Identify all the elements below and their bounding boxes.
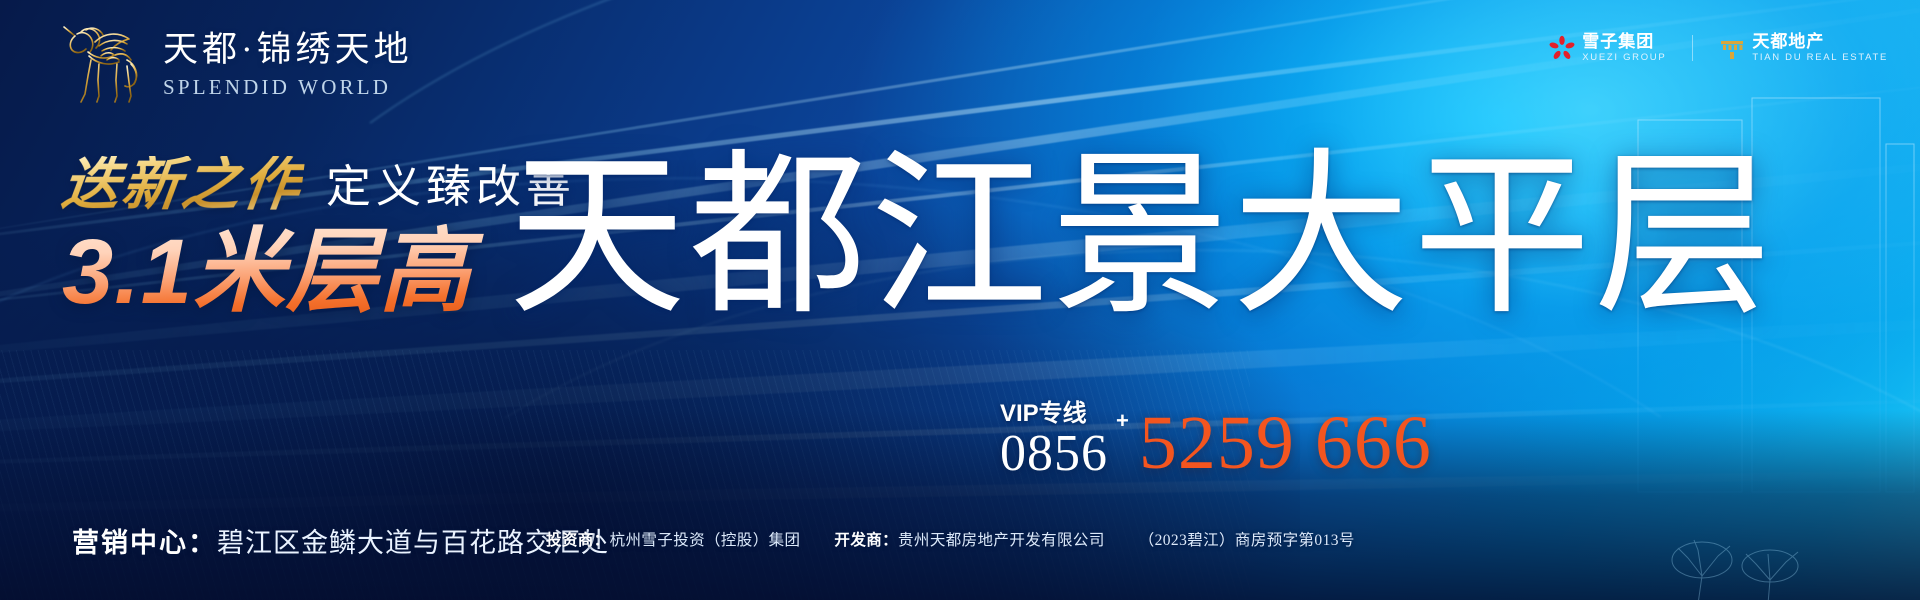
brand-name-en: SPLENDID WORLD [163,75,413,100]
partner-logo-tiandu[interactable]: 天都地产 TIAN DU REAL ESTATE [1719,33,1888,63]
main-headline: 天都江景大平层 [508,148,1775,326]
feature-highlight: 3.1米层高 [62,224,576,322]
vip-hotline-label: VIP专线 [1000,402,1087,426]
phone-plus-separator: + [1116,408,1129,480]
brand-logo[interactable]: 天都·锦绣天地 SPLENDID WORLD [55,22,413,104]
partner-logos: 雪子集团 XUEZI GROUP 天都地产 TIAN DU REAL ESTAT… [1549,33,1888,63]
logo-divider [1692,35,1693,61]
partner-name-en: XUEZI GROUP [1582,53,1666,63]
sales-center-address: 营销中心：碧江区金鳞大道与百花路交汇处 [72,521,609,560]
phone-area-code: 0856 [1000,428,1108,480]
advertising-banner: 天都·锦绣天地 SPLENDID WORLD 雪子集团 XUEZI GROUP [0,0,1920,600]
legal-line: 投资商：杭州雪子投资（控股）集团 开发商：贵州天都房地产开发有限公司 （2023… [546,528,1355,550]
tree-silhouette-icon [1658,536,1828,600]
winged-unicorn-crest-icon [55,22,147,104]
investor-label: 投资商： [546,532,610,549]
tagline-row: 迭新之作 定义臻改善 [62,156,576,214]
red-flower-icon [1549,35,1575,61]
partner-name-en: TIAN DU REAL ESTATE [1752,53,1888,63]
tagline-gold: 迭新之作 [58,156,305,214]
partner-name-cn: 雪子集团 [1582,33,1666,50]
developer-label: 开发商： [834,532,898,549]
left-copy-block: 迭新之作 定义臻改善 3.1米层高 [62,156,576,322]
partner-logo-xuezi[interactable]: 雪子集团 XUEZI GROUP [1549,33,1666,63]
gold-gate-icon [1719,35,1745,61]
developer-value: 贵州天都房地产开发有限公司 [898,532,1105,549]
brand-name-cn: 天都·锦绣天地 [163,30,413,70]
permit-number: （2023碧江）商房预字第013号 [1139,528,1355,550]
phone-block[interactable]: VIP专线 0856 + 5259 666 [1000,402,1432,480]
address-label: 营销中心： [72,528,217,558]
phone-number: 5259 666 [1139,407,1432,480]
investor-value: 杭州雪子投资（控股）集团 [610,532,801,549]
partner-name-cn: 天都地产 [1752,33,1888,50]
